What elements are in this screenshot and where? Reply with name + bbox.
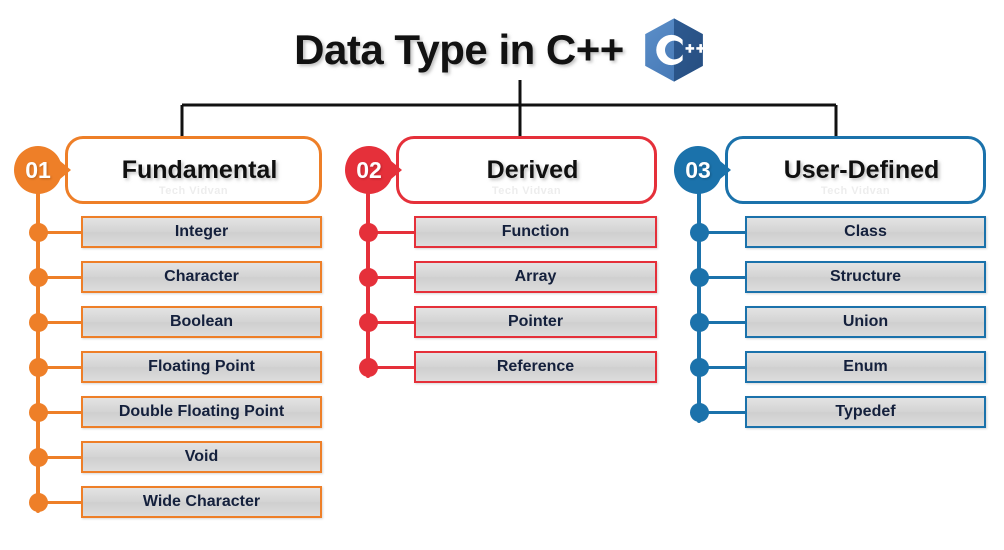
item-bullet-dot-icon	[29, 358, 48, 377]
category-title-label: Derived	[475, 156, 579, 185]
type-item-label: Integer	[175, 223, 228, 241]
type-item-box[interactable]: Reference	[414, 351, 657, 383]
type-item-row: Union	[670, 300, 992, 345]
category-column-user-defined: 03User-DefinedTech VidvanClassStructureU…	[670, 132, 992, 435]
category-number-badge: 01	[14, 146, 62, 194]
type-item-label: Function	[502, 223, 570, 241]
category-title-pill-derived[interactable]: DerivedTech Vidvan	[396, 136, 657, 204]
type-item-row: Character	[10, 255, 328, 300]
type-item-box[interactable]: Character	[81, 261, 322, 293]
category-items-derived: FunctionArrayPointerReference	[341, 210, 663, 390]
type-item-box[interactable]: Double Floating Point	[81, 396, 322, 428]
type-item-row: Double Floating Point	[10, 390, 328, 435]
cpp-logo-icon	[638, 14, 710, 86]
item-bullet-dot-icon	[29, 403, 48, 422]
type-item-label: Void	[185, 448, 218, 466]
item-bullet-dot-icon	[29, 268, 48, 287]
item-bullet-dot-icon	[29, 493, 48, 512]
type-item-box[interactable]: Typedef	[745, 396, 986, 428]
item-bullet-dot-icon	[690, 358, 709, 377]
type-item-box[interactable]: Integer	[81, 216, 322, 248]
item-bullet-dot-icon	[29, 313, 48, 332]
item-bullet-dot-icon	[690, 313, 709, 332]
category-title-label: Fundamental	[110, 156, 278, 185]
type-item-row: Integer	[10, 210, 328, 255]
type-item-row: Floating Point	[10, 345, 328, 390]
type-item-label: Pointer	[508, 313, 563, 331]
category-header-derived: 02DerivedTech Vidvan	[341, 132, 663, 208]
type-item-label: Boolean	[170, 313, 233, 331]
type-item-row: Void	[10, 435, 328, 480]
item-bullet-dot-icon	[359, 313, 378, 332]
title-row: Data Type in C++	[0, 14, 1004, 86]
category-header-user-defined: 03User-DefinedTech Vidvan	[670, 132, 992, 208]
watermark-text: Tech Vidvan	[728, 185, 983, 197]
item-bullet-dot-icon	[29, 223, 48, 242]
type-item-box[interactable]: Array	[414, 261, 657, 293]
type-item-box[interactable]: Wide Character	[81, 486, 322, 518]
category-title-pill-fundamental[interactable]: FundamentalTech Vidvan	[65, 136, 322, 204]
item-bullet-dot-icon	[359, 268, 378, 287]
type-item-row: Enum	[670, 345, 992, 390]
category-title-label: User-Defined	[772, 156, 940, 185]
type-item-row: Function	[341, 210, 663, 255]
item-bullet-dot-icon	[29, 448, 48, 467]
watermark-text: Tech Vidvan	[399, 185, 654, 197]
type-item-row: Array	[341, 255, 663, 300]
category-items-user-defined: ClassStructureUnionEnumTypedef	[670, 210, 992, 435]
category-header-fundamental: 01FundamentalTech Vidvan	[10, 132, 328, 208]
type-item-row: Wide Character	[10, 480, 328, 525]
type-item-label: Floating Point	[148, 358, 255, 376]
item-bullet-dot-icon	[690, 403, 709, 422]
type-item-box[interactable]: Structure	[745, 261, 986, 293]
type-item-box[interactable]: Enum	[745, 351, 986, 383]
type-item-box[interactable]: Boolean	[81, 306, 322, 338]
item-bullet-dot-icon	[359, 223, 378, 242]
item-bullet-dot-icon	[359, 358, 378, 377]
type-item-label: Array	[515, 268, 557, 286]
type-item-box[interactable]: Union	[745, 306, 986, 338]
type-item-row: Typedef	[670, 390, 992, 435]
category-items-fundamental: IntegerCharacterBooleanFloating PointDou…	[10, 210, 328, 525]
type-item-label: Enum	[843, 358, 887, 376]
type-item-label: Wide Character	[143, 493, 260, 511]
item-bullet-dot-icon	[690, 223, 709, 242]
category-column-derived: 02DerivedTech VidvanFunctionArrayPointer…	[341, 132, 663, 390]
type-item-box[interactable]: Function	[414, 216, 657, 248]
type-item-label: Character	[164, 268, 239, 286]
category-number-badge: 03	[674, 146, 722, 194]
category-title-pill-user-defined[interactable]: User-DefinedTech Vidvan	[725, 136, 986, 204]
type-item-row: Structure	[670, 255, 992, 300]
type-item-label: Reference	[497, 358, 574, 376]
type-item-row: Boolean	[10, 300, 328, 345]
type-item-label: Union	[843, 313, 888, 331]
type-item-label: Class	[844, 223, 887, 241]
type-item-box[interactable]: Floating Point	[81, 351, 322, 383]
watermark-text: Tech Vidvan	[68, 185, 319, 197]
type-item-row: Reference	[341, 345, 663, 390]
type-item-box[interactable]: Class	[745, 216, 986, 248]
page-title: Data Type in C++	[294, 26, 624, 74]
type-item-label: Typedef	[835, 403, 895, 421]
item-bullet-dot-icon	[690, 268, 709, 287]
type-item-row: Class	[670, 210, 992, 255]
type-item-box[interactable]: Void	[81, 441, 322, 473]
category-number-badge: 02	[345, 146, 393, 194]
diagram-canvas: Data Type in C++	[0, 0, 1004, 550]
type-item-box[interactable]: Pointer	[414, 306, 657, 338]
type-item-label: Structure	[830, 268, 901, 286]
category-column-fundamental: 01FundamentalTech VidvanIntegerCharacter…	[10, 132, 328, 525]
type-item-label: Double Floating Point	[119, 403, 284, 421]
type-item-row: Pointer	[341, 300, 663, 345]
